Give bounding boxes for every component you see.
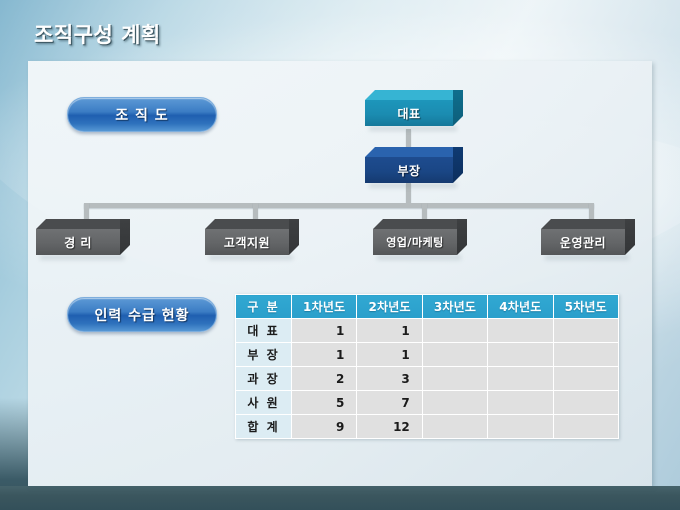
org-node-sales-marketing-top-face [373, 219, 457, 229]
org-node-sales-marketing[interactable]: 영업/마케팅 [373, 219, 457, 255]
cell-director-year-1: 1 [292, 343, 357, 367]
cell-staff-year-2: 7 [357, 391, 422, 415]
org-node-customer-support-shadow [209, 255, 293, 260]
table-row: 과 장 2 3 [236, 367, 619, 391]
table-row: 대 표 1 1 [236, 319, 619, 343]
cell-total-year-1: 9 [292, 415, 357, 439]
row-label-staff: 사 원 [236, 391, 292, 415]
table-row: 사 원 5 7 [236, 391, 619, 415]
connector-drop-sales-marketing [422, 203, 427, 225]
page-title: 조직구성 계획 [34, 19, 161, 49]
cell-manager-year-3 [422, 367, 487, 391]
table-header-row: 구 분 1차년도 2차년도 3차년도 4차년도 5차년도 [236, 295, 619, 319]
cell-director-year-2: 1 [357, 343, 422, 367]
org-node-accounting-top-face [36, 219, 120, 229]
org-node-director-label: 부장 [365, 157, 453, 183]
col-header-year-4: 4차년도 [488, 295, 553, 319]
cell-total-year-5 [553, 415, 618, 439]
org-node-customer-support-side-face [289, 219, 299, 255]
table-row: 부 장 1 1 [236, 343, 619, 367]
cell-ceo-year-2: 1 [357, 319, 422, 343]
cell-total-year-4 [488, 415, 553, 439]
staffing-table-container: 구 분 1차년도 2차년도 3차년도 4차년도 5차년도 대 표 1 1 [235, 294, 619, 439]
org-node-operations-shadow [545, 255, 629, 260]
org-node-operations[interactable]: 운영관리 [541, 219, 625, 255]
org-node-ceo-label: 대표 [365, 100, 453, 126]
col-header-year-2: 2차년도 [357, 295, 422, 319]
cell-manager-year-2: 3 [357, 367, 422, 391]
connector-director-drop [406, 183, 411, 205]
col-header-year-5: 5차년도 [553, 295, 618, 319]
cell-ceo-year-1: 1 [292, 319, 357, 343]
row-label-total: 합 계 [236, 415, 292, 439]
background-bottom-band [0, 486, 680, 510]
org-node-director-side-face [453, 147, 463, 183]
org-node-ceo-shadow [369, 126, 457, 131]
cell-manager-year-1: 2 [292, 367, 357, 391]
staffing-table: 구 분 1차년도 2차년도 3차년도 4차년도 5차년도 대 표 1 1 [235, 294, 619, 439]
col-header-category: 구 분 [236, 295, 292, 319]
section-label-org-chart[interactable]: 조 직 도 [67, 97, 217, 132]
org-node-operations-side-face [625, 219, 635, 255]
org-node-ceo-top-face [365, 90, 453, 100]
table-row: 합 계 9 12 [236, 415, 619, 439]
cell-director-year-5 [553, 343, 618, 367]
row-label-manager: 과 장 [236, 367, 292, 391]
org-node-accounting-shadow [40, 255, 124, 260]
org-node-customer-support-label: 고객지원 [205, 229, 289, 255]
connector-ceo-to-director [406, 129, 411, 153]
content-panel: 조 직 도 인력 수급 현황 대표 [28, 61, 652, 486]
cell-ceo-year-3 [422, 319, 487, 343]
cell-staff-year-5 [553, 391, 618, 415]
row-label-ceo: 대 표 [236, 319, 292, 343]
section-label-staffing-text: 인력 수급 현황 [94, 305, 189, 325]
org-node-operations-label: 운영관리 [541, 229, 625, 255]
org-node-operations-top-face [541, 219, 625, 229]
org-node-accounting-label: 경 리 [36, 229, 120, 255]
row-label-director: 부 장 [236, 343, 292, 367]
org-node-sales-marketing-side-face [457, 219, 467, 255]
cell-total-year-2: 12 [357, 415, 422, 439]
connector-horizontal-bus [84, 203, 594, 208]
cell-total-year-3 [422, 415, 487, 439]
background-left-band [0, 0, 28, 510]
connector-drop-accounting [84, 203, 89, 225]
cell-director-year-3 [422, 343, 487, 367]
org-node-director-top-face [365, 147, 453, 157]
cell-ceo-year-4 [488, 319, 553, 343]
org-node-accounting[interactable]: 경 리 [36, 219, 120, 255]
cell-staff-year-4 [488, 391, 553, 415]
org-node-ceo-side-face [453, 90, 463, 126]
org-node-director-shadow [369, 183, 457, 188]
org-node-director[interactable]: 부장 [365, 147, 453, 183]
cell-ceo-year-5 [553, 319, 618, 343]
org-node-customer-support-top-face [205, 219, 289, 229]
org-node-sales-marketing-shadow [377, 255, 461, 260]
cell-staff-year-1: 5 [292, 391, 357, 415]
cell-manager-year-4 [488, 367, 553, 391]
org-node-accounting-side-face [120, 219, 130, 255]
org-node-customer-support[interactable]: 고객지원 [205, 219, 289, 255]
cell-director-year-4 [488, 343, 553, 367]
slide: 조직구성 계획 조 직 도 인력 수급 현황 대표 [0, 0, 680, 510]
connector-drop-customer-support [253, 203, 258, 225]
col-header-year-3: 3차년도 [422, 295, 487, 319]
org-node-ceo[interactable]: 대표 [365, 90, 453, 126]
section-label-staffing[interactable]: 인력 수급 현황 [67, 297, 217, 332]
connector-drop-operations [589, 203, 594, 225]
staffing-table-body: 대 표 1 1 부 장 1 1 [236, 319, 619, 439]
cell-manager-year-5 [553, 367, 618, 391]
section-label-org-chart-text: 조 직 도 [115, 105, 168, 125]
org-node-sales-marketing-label: 영업/마케팅 [373, 229, 457, 255]
staffing-table-head: 구 분 1차년도 2차년도 3차년도 4차년도 5차년도 [236, 295, 619, 319]
cell-staff-year-3 [422, 391, 487, 415]
col-header-year-1: 1차년도 [292, 295, 357, 319]
